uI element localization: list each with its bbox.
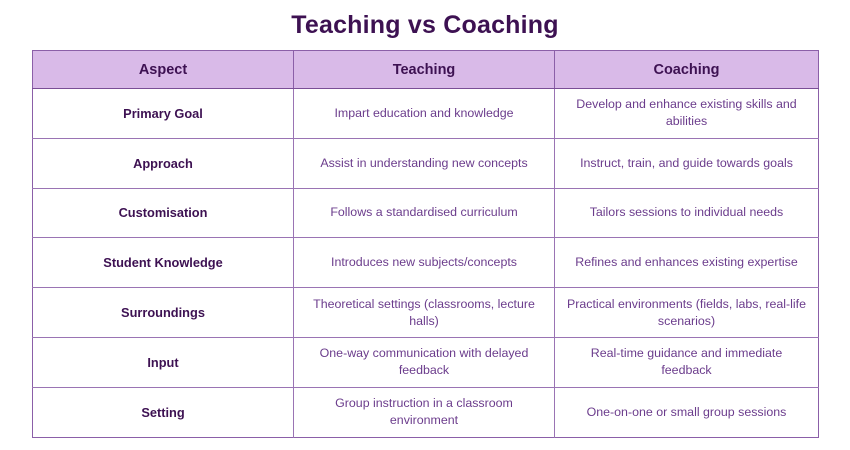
cell-teaching: One-way communication with delayed feedb… [294,337,555,387]
column-header-teaching: Teaching [294,51,555,89]
cell-coaching: Practical environments (fields, labs, re… [555,288,819,338]
table-row: Approach Assist in understanding new con… [33,138,819,188]
column-header-coaching: Coaching [555,51,819,89]
comparison-table: Aspect Teaching Coaching Primary Goal Im… [32,50,819,438]
cell-teaching: Theoretical settings (classrooms, lectur… [294,288,555,338]
cell-coaching: Instruct, train, and guide towards goals [555,138,819,188]
comparison-table-page: Teaching vs Coaching Aspect Teaching Coa… [0,0,850,450]
cell-teaching: Assist in understanding new concepts [294,138,555,188]
table-row: Input One-way communication with delayed… [33,337,819,387]
table-row: Primary Goal Impart education and knowle… [33,89,819,139]
cell-aspect: Customisation [33,188,294,238]
cell-aspect: Input [33,337,294,387]
cell-teaching: Impart education and knowledge [294,89,555,139]
cell-coaching: Real-time guidance and immediate feedbac… [555,337,819,387]
table-row: Student Knowledge Introduces new subject… [33,238,819,288]
cell-teaching: Follows a standardised curriculum [294,188,555,238]
table-row: Setting Group instruction in a classroom… [33,387,819,437]
cell-teaching: Group instruction in a classroom environ… [294,387,555,437]
cell-coaching: Develop and enhance existing skills and … [555,89,819,139]
cell-teaching: Introduces new subjects/concepts [294,238,555,288]
page-title: Teaching vs Coaching [0,8,850,42]
cell-aspect: Primary Goal [33,89,294,139]
table-body: Primary Goal Impart education and knowle… [33,89,819,438]
cell-aspect: Surroundings [33,288,294,338]
table-container: Aspect Teaching Coaching Primary Goal Im… [32,50,818,438]
table-row: Customisation Follows a standardised cur… [33,188,819,238]
table-header: Aspect Teaching Coaching [33,51,819,89]
header-row: Aspect Teaching Coaching [33,51,819,89]
column-header-aspect: Aspect [33,51,294,89]
cell-aspect: Student Knowledge [33,238,294,288]
cell-aspect: Setting [33,387,294,437]
cell-aspect: Approach [33,138,294,188]
cell-coaching: One-on-one or small group sessions [555,387,819,437]
cell-coaching: Refines and enhances existing expertise [555,238,819,288]
cell-coaching: Tailors sessions to individual needs [555,188,819,238]
table-row: Surroundings Theoretical settings (class… [33,288,819,338]
